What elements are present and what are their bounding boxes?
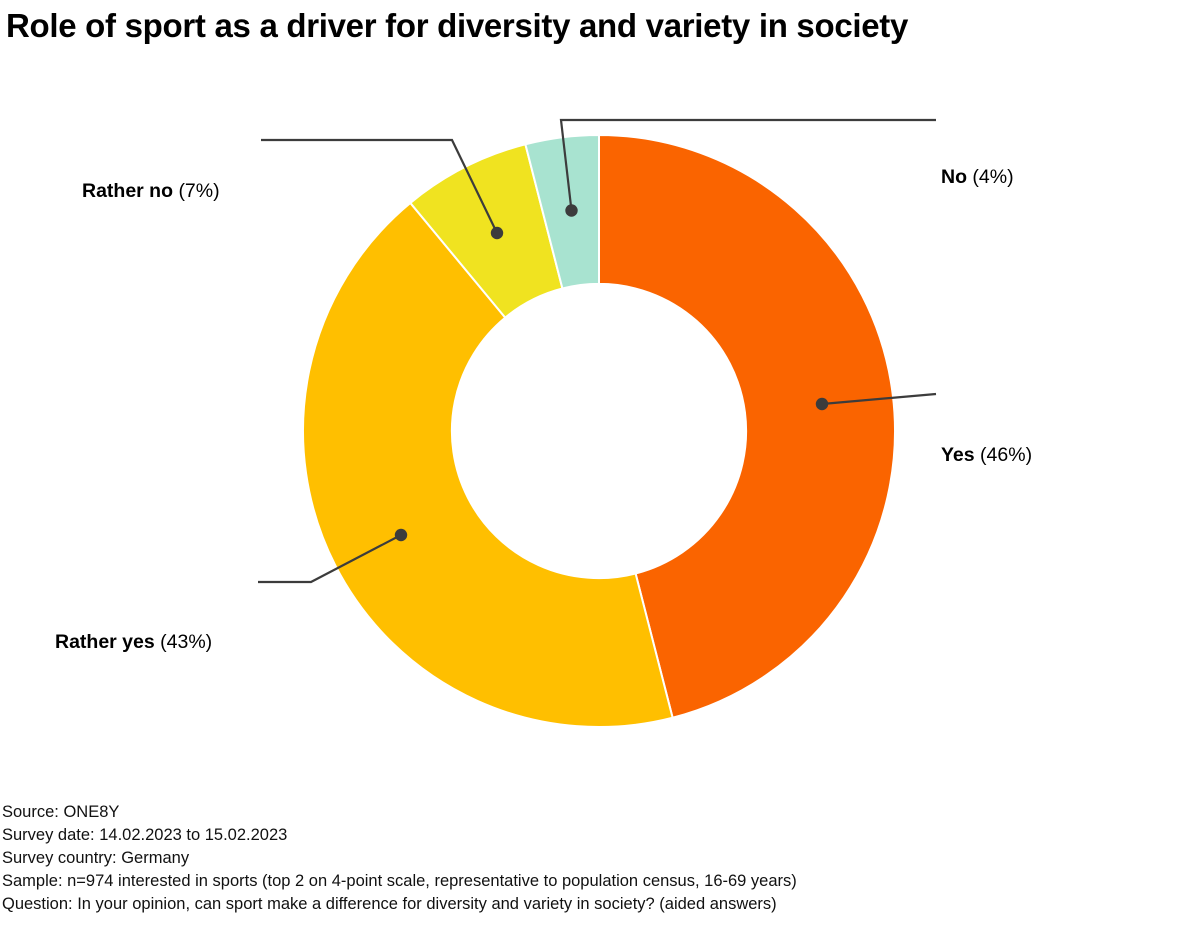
slice-label-no-name: No [941,166,967,188]
footnote-line-5: Question: In your opinion, can sport mak… [2,893,1182,916]
donut-chart: No (4%) Yes (46%) Rather yes (43%) Rathe… [0,60,1200,790]
slice-label-rather-yes-name: Rather yes [55,631,155,653]
leader-dot-rather-yes [395,529,407,541]
footnotes: Source: ONE8YSurvey date: 14.02.2023 to … [2,801,1182,916]
slice-label-yes-percent: (46%) [980,444,1032,466]
footnote-line-3: Survey country: Germany [2,847,1182,870]
footnote-line-2: Survey date: 14.02.2023 to 15.02.2023 [2,824,1182,847]
leader-dot-yes [816,398,828,410]
donut-slice-group [303,135,895,727]
leader-dot-no [565,204,577,216]
slice-label-rather-yes-percent: (43%) [160,631,212,653]
leader-dot-rather-no [491,227,503,239]
slice-label-yes-name: Yes [941,444,975,466]
slice-label-rather-no: Rather no (7%) [82,179,220,203]
slice-label-yes: Yes (46%) [941,443,1032,467]
slice-label-rather-no-name: Rather no [82,180,173,202]
slice-label-no-percent: (4%) [972,166,1013,188]
slice-label-no: No (4%) [941,165,1014,189]
footnote-line-4: Sample: n=974 interested in sports (top … [2,870,1182,893]
page-title: Role of sport as a driver for diversity … [6,6,1186,46]
slice-label-rather-no-percent: (7%) [178,180,219,202]
donut-chart-svg [0,60,1200,790]
slice-label-rather-yes: Rather yes (43%) [55,630,212,654]
chart-page: Role of sport as a driver for diversity … [0,0,1200,934]
footnote-line-1: Source: ONE8Y [2,801,1182,824]
